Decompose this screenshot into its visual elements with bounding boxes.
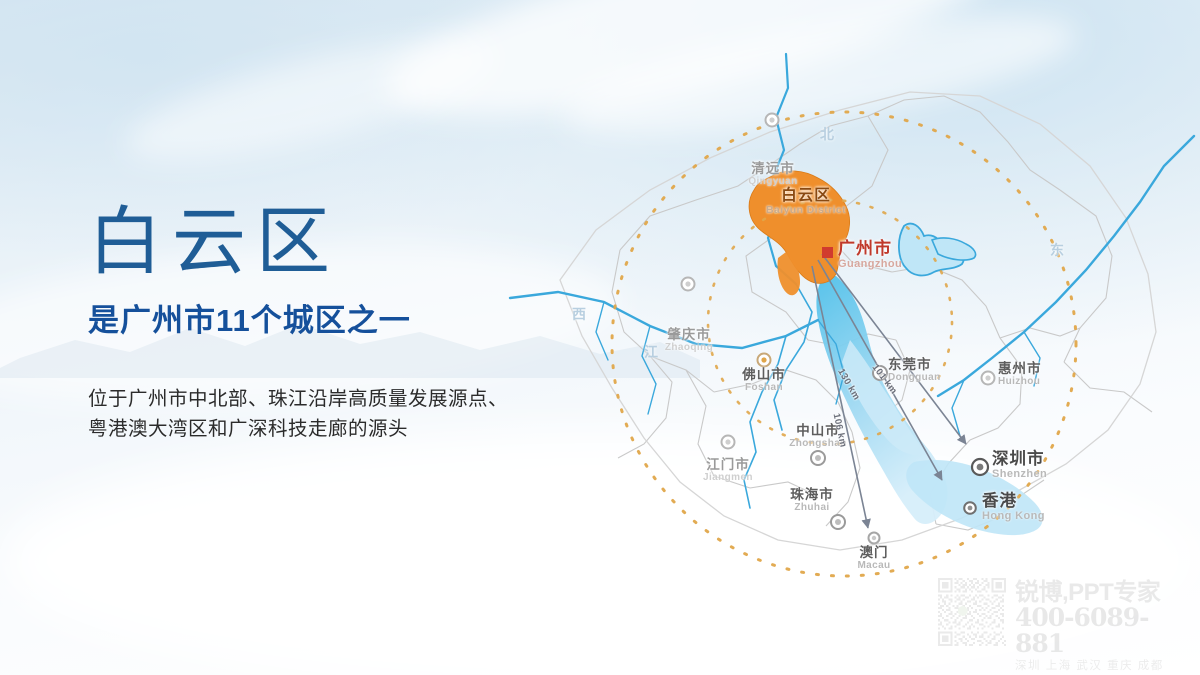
marker-huizhou <box>982 372 995 385</box>
watermark-cities: 深圳 上海 武汉 重庆 成都 <box>1015 659 1190 674</box>
guangdong-map: 清远市 Qingyuan 肇庆市 Zhaoqing 佛山市 Foshan 白云区… <box>500 40 1200 620</box>
marker-qingyuan <box>766 114 779 127</box>
marker-macau <box>869 533 880 544</box>
marker-dongguan <box>873 366 887 380</box>
marker-shenzhen <box>972 459 988 475</box>
marker-zhuhai <box>831 515 845 529</box>
cloud-streak-5 <box>116 15 504 185</box>
marker-zhongshan <box>811 451 825 465</box>
map-graphic <box>500 40 1200 620</box>
marker-foshan <box>758 354 771 367</box>
marker-jiangmen <box>722 436 735 449</box>
slide-canvas: 白云区 是广州市11个城区之一 位于广州市中北部、珠江沿岸高质量发展源点、 粤港… <box>0 0 1200 675</box>
marker-hongkong <box>964 502 976 514</box>
reservoir-shapes <box>899 224 976 276</box>
marker-zhaoqing <box>682 278 695 291</box>
river-network <box>510 54 1194 508</box>
marker-guangzhou-square <box>822 247 833 258</box>
baiyun-district-shape <box>749 171 850 283</box>
